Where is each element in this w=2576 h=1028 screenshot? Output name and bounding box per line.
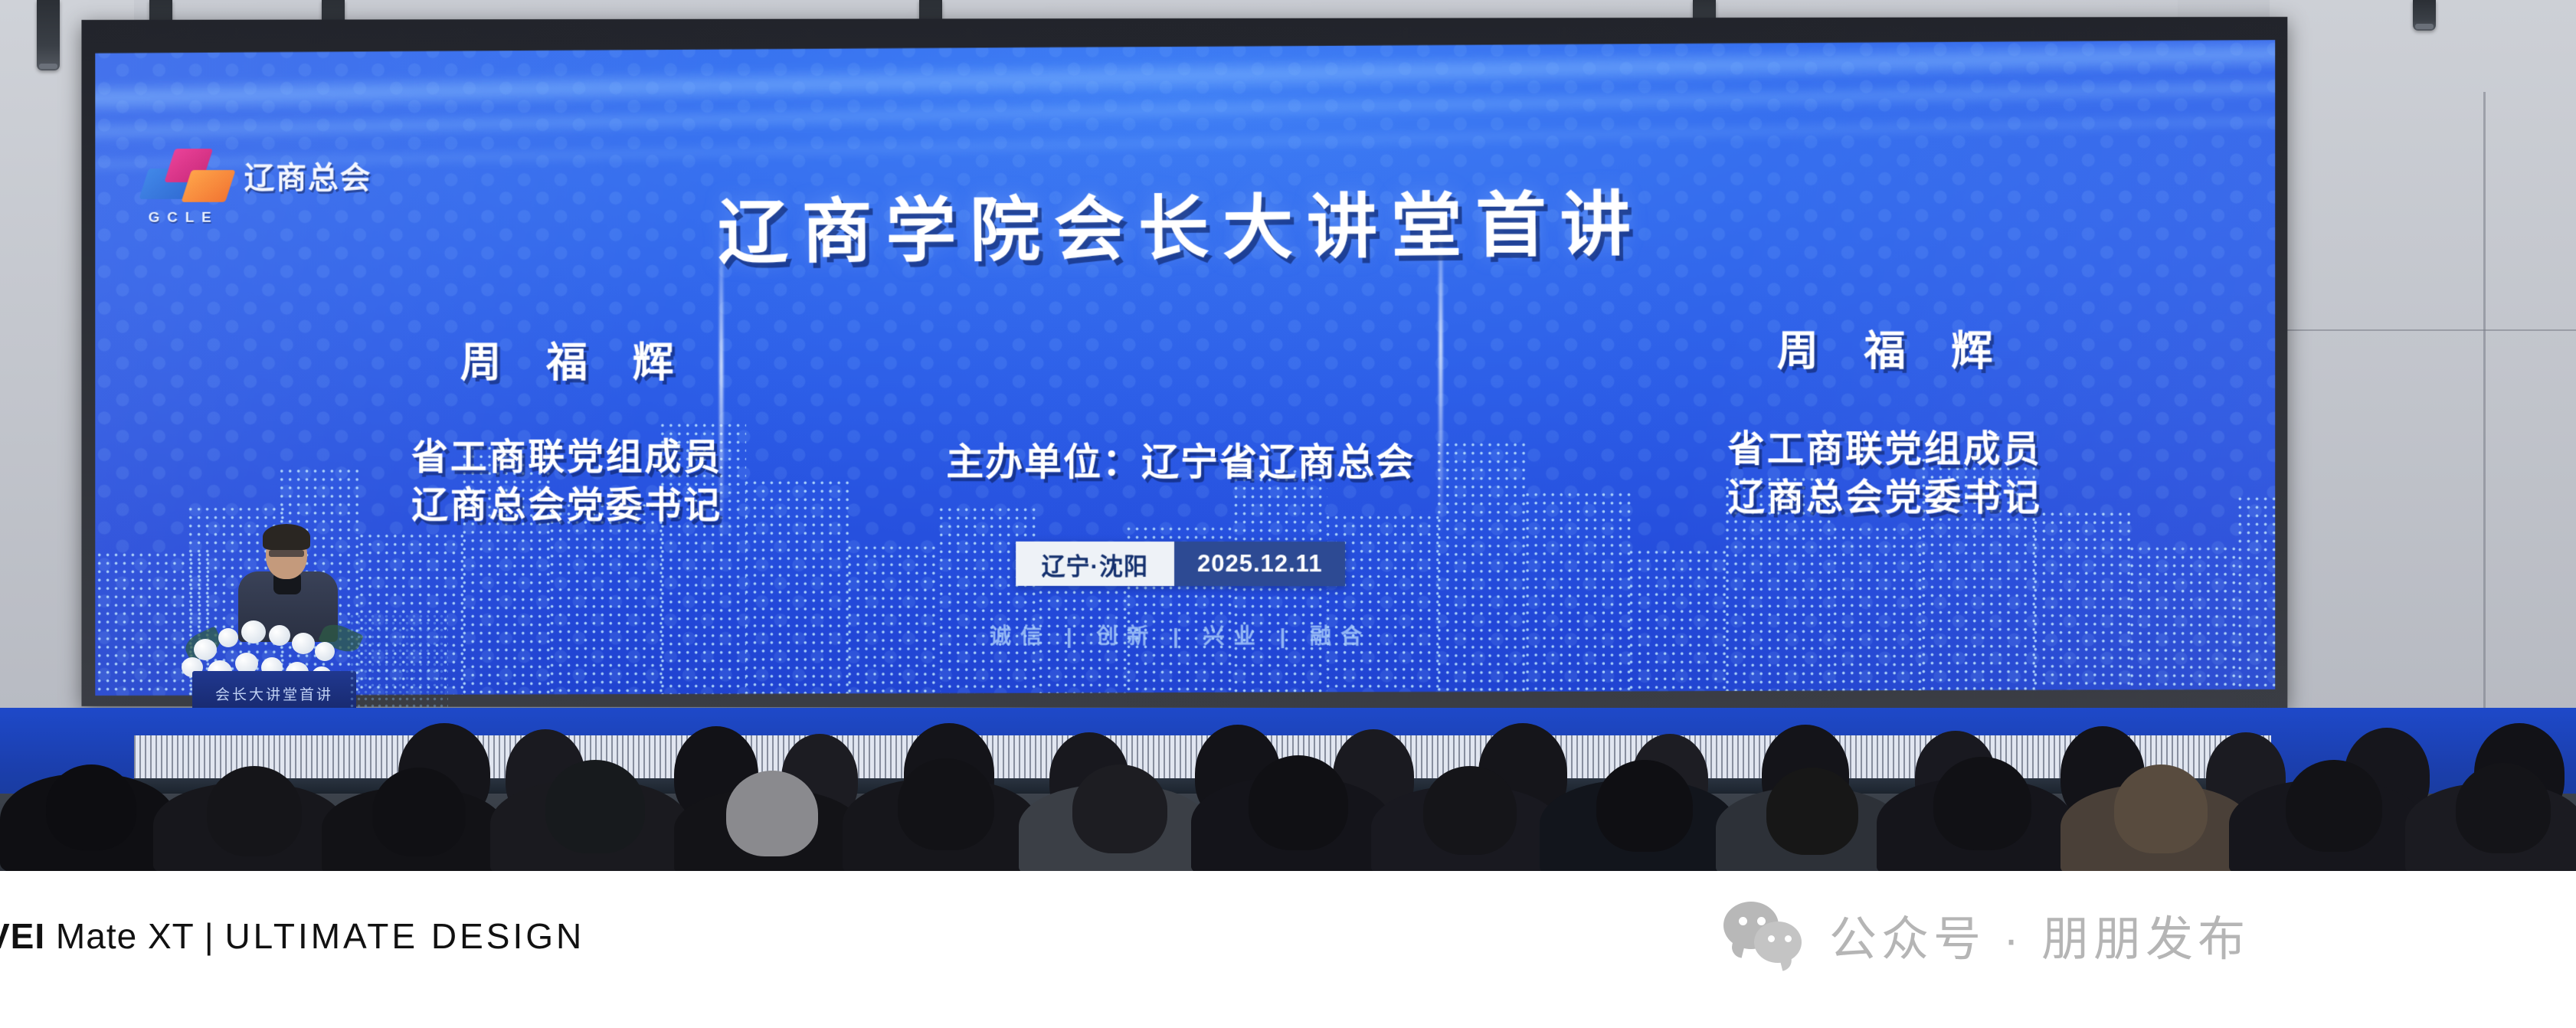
- wechat-dot: [1757, 917, 1766, 925]
- wechat-dot: [1768, 935, 1775, 942]
- spotlight-lens: [39, 64, 57, 69]
- podium-area: 会长大讲堂首讲: [165, 521, 410, 712]
- led-screen-bezel: 辽商总会 GCLE 辽商学院会长大讲堂首讲 周 福 辉 省工商联党组成员 辽商总…: [81, 17, 2287, 709]
- wall-seam: [2270, 329, 2576, 331]
- screenshot-root: 辽商总会 GCLE 辽商学院会长大讲堂首讲 周 福 辉 省工商联党组成员 辽商总…: [0, 0, 2576, 1028]
- flower: [269, 625, 290, 646]
- huawei-tagline: ULTIMATE DESIGN: [224, 916, 584, 956]
- badge-location: 辽宁·沈阳: [1016, 542, 1174, 586]
- led-screen: 辽商总会 GCLE 辽商学院会长大讲堂首讲 周 福 辉 省工商联党组成员 辽商总…: [95, 40, 2275, 699]
- audience-head: [2456, 763, 2551, 853]
- flower: [241, 620, 266, 643]
- audience-head: [1596, 760, 1693, 852]
- audience-head: [207, 766, 302, 856]
- audience-head: [2114, 764, 2208, 853]
- audience-head: [545, 760, 645, 853]
- spotlight-lens: [2415, 24, 2434, 29]
- flower: [315, 642, 335, 661]
- wechat-dot: [1739, 917, 1747, 925]
- flower: [218, 628, 238, 647]
- audience-head: [2286, 760, 2382, 852]
- event-badges: 辽宁·沈阳 2025.12.11: [1016, 542, 1346, 586]
- wechat-bubble-small: [1754, 922, 1802, 963]
- ceiling-spotlight: [2413, 0, 2436, 31]
- audience-head-gray-hair: [726, 771, 818, 856]
- wechat-icon: [1723, 902, 1803, 967]
- wechat-dot: [1785, 935, 1792, 942]
- wall-seam: [2483, 92, 2486, 751]
- audience-head: [1933, 757, 2031, 850]
- speaker-name-right: 周 福 辉: [1648, 317, 2139, 378]
- podium-label: 会长大讲堂首讲: [192, 683, 356, 704]
- watermark-footer: VEI Mate XT | ULTIMATE DESIGN 公众号 · 朋朋发布: [0, 871, 2576, 1028]
- flower: [292, 633, 315, 654]
- huawei-brand: VEI: [0, 916, 45, 956]
- speaker-hair: [263, 524, 310, 550]
- wechat-account-text: 公众号 · 朋朋发布: [1829, 900, 2250, 969]
- audience-head: [1072, 764, 1167, 853]
- huawei-model: Mate XT |: [45, 916, 224, 956]
- conference-photo: 辽商总会 GCLE 辽商学院会长大讲堂首讲 周 福 辉 省工商联党组成员 辽商总…: [0, 0, 2576, 871]
- host-organization: 主办单位：辽宁省辽商总会: [95, 432, 2275, 487]
- audience-head: [46, 764, 136, 850]
- audience-head: [1249, 755, 1348, 850]
- speaker-glasses: [269, 550, 304, 557]
- audience-head: [1423, 766, 1517, 855]
- audience-head: [898, 758, 994, 850]
- audience-head: [1766, 768, 1858, 855]
- wechat-watermark: 公众号 · 朋朋发布: [1723, 900, 2250, 969]
- flower: [194, 639, 217, 660]
- stage-mesh-panel: [349, 613, 448, 709]
- huawei-watermark: VEI Mate XT | ULTIMATE DESIGN: [0, 915, 584, 957]
- audience-head: [372, 768, 466, 856]
- badge-date: 2025.12.11: [1174, 542, 1346, 586]
- right-wall: [2270, 0, 2576, 812]
- speaker-name-left: 周 福 辉: [340, 329, 811, 389]
- event-title: 辽商学院会长大讲堂首讲: [95, 161, 2275, 283]
- ceiling-spotlight: [37, 0, 60, 70]
